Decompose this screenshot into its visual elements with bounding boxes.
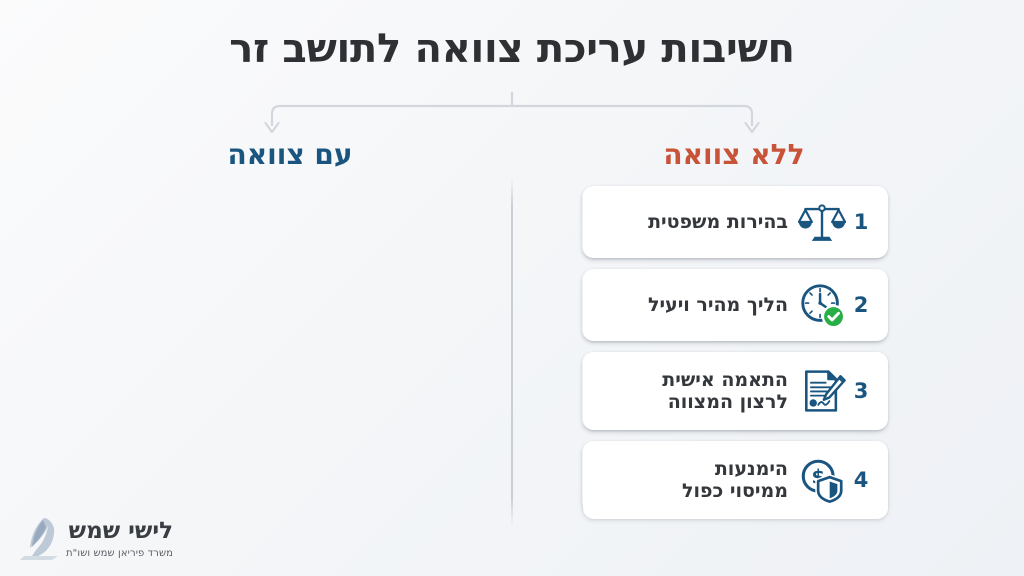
list-item[interactable]: הימנעות ממיסוי כפול $ 4 xyxy=(583,441,888,519)
balanced-scales-icon xyxy=(796,196,848,248)
card-number: 4 xyxy=(850,468,872,492)
company-logo[interactable]: לישי שמש משרד פיריאן שמש ושו"ת xyxy=(18,516,173,562)
column-heading-with-will: עם צוואה xyxy=(135,138,445,171)
list-item[interactable]: התאמה אישית לרצון המצווה 3 xyxy=(583,352,888,430)
card-number: 3 xyxy=(850,379,872,403)
column-divider xyxy=(511,178,513,526)
logo-name: לישי שמש xyxy=(66,519,173,544)
clock-check-icon xyxy=(796,279,848,331)
logo-subtitle: משרד פיריאן שמש ושו"ת xyxy=(66,548,173,559)
bracket-connector xyxy=(262,92,762,142)
page-title: חשיבות עריכת צוואה לתושב זר xyxy=(0,26,1024,72)
column-heading-without-will: ללא צוואה xyxy=(579,138,889,171)
card-label: התאמה אישית לרצון המצווה xyxy=(595,369,792,414)
list-item[interactable]: הליך מהיר ויעיל xyxy=(583,269,888,341)
card-number: 2 xyxy=(850,293,872,317)
signed-document-pen-icon xyxy=(796,365,848,417)
list-item[interactable]: בהירות משפטית 1 xyxy=(583,186,888,258)
dollar-shield-icon: $ xyxy=(796,454,848,506)
card-number: 1 xyxy=(850,210,872,234)
card-label: הליך מהיר ויעיל xyxy=(595,294,792,316)
column-with-will: בהירות משפטית 1 הליך מהיר ויעיל xyxy=(583,186,888,530)
card-label: הימנעות ממיסוי כפול xyxy=(595,458,792,503)
quill-feather-icon xyxy=(18,516,60,562)
card-label: בהירות משפטית xyxy=(595,211,792,233)
